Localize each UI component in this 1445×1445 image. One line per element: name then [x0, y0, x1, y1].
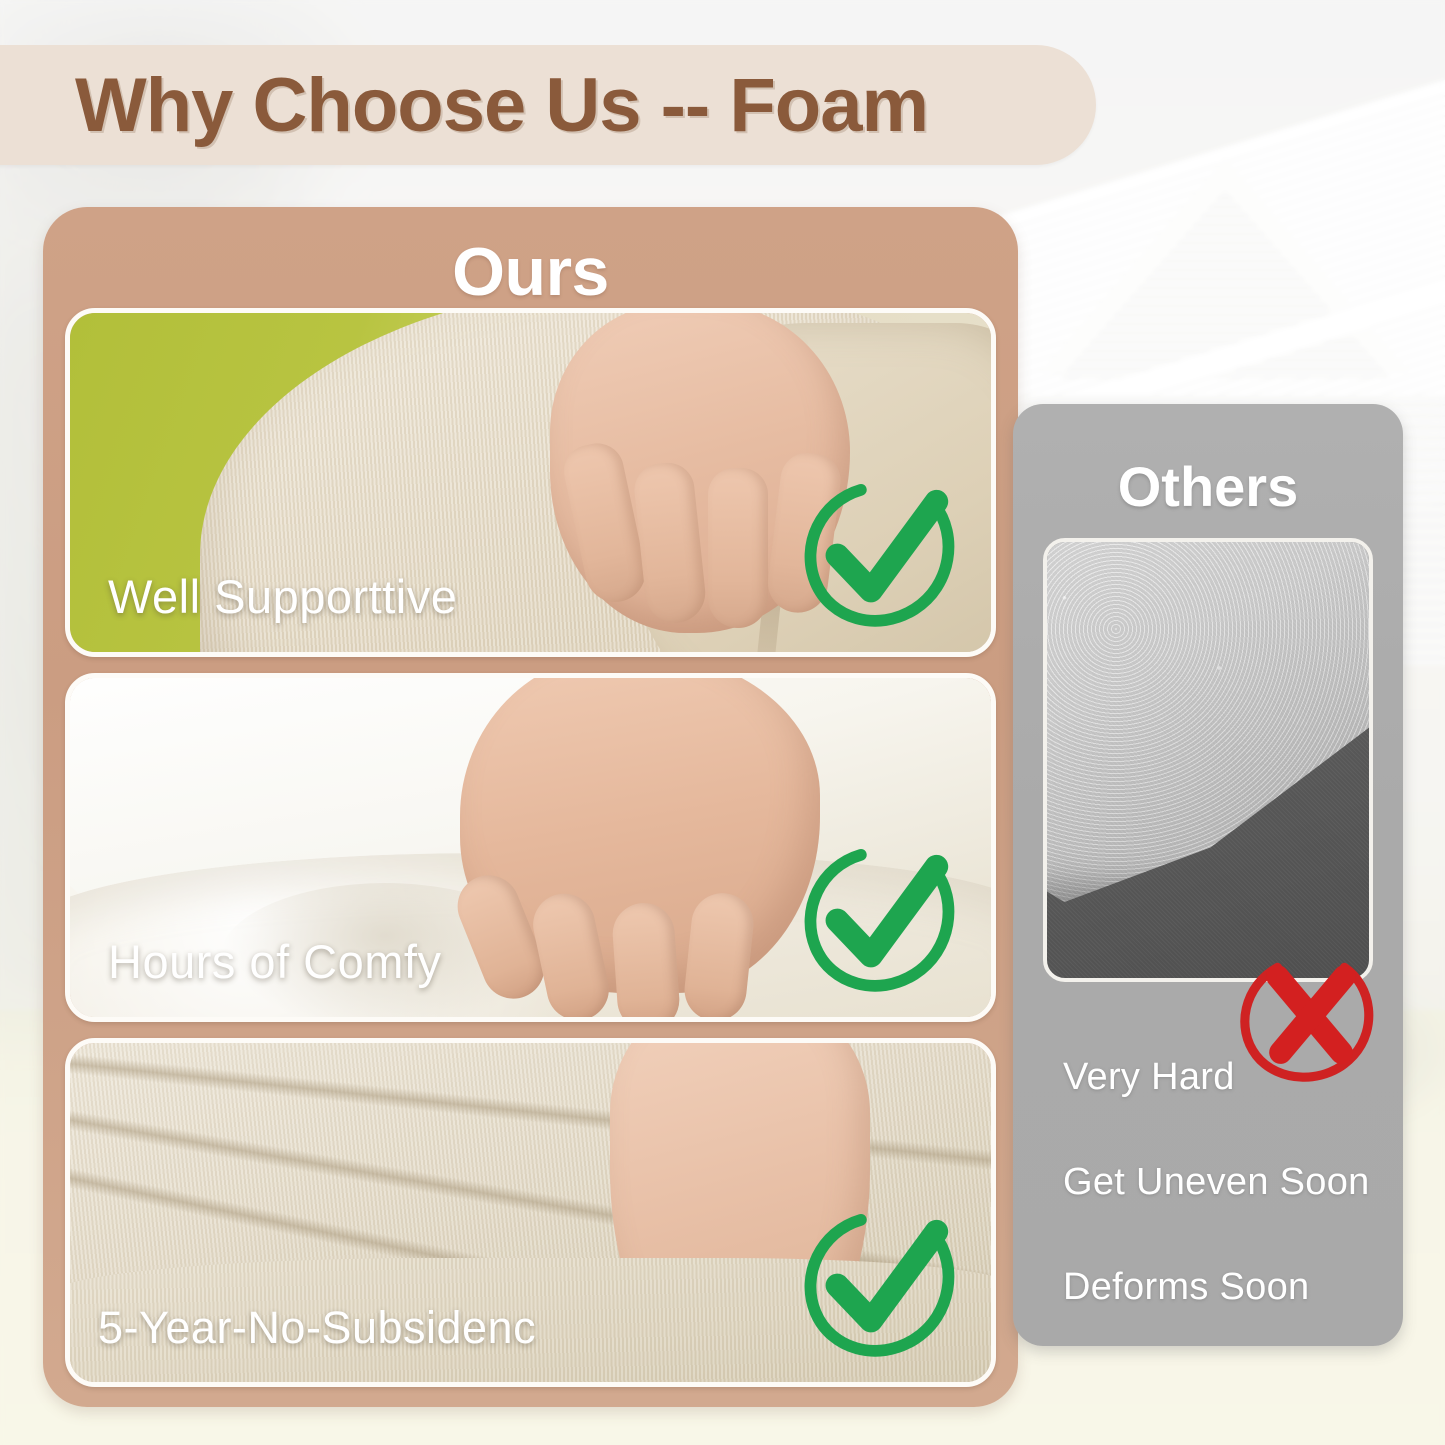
green-check-icon [797, 468, 965, 636]
others-panel: Others Very Hard Get Uneven Soon Deforms… [1013, 404, 1403, 1346]
ours-card-hours-of-comfy[interactable]: Hours of Comfy [65, 673, 996, 1022]
ours-card-list: Well Supporttive Hours of Comfy [65, 308, 996, 1387]
coarse-foam-photo [1043, 538, 1373, 982]
page-title: Why Choose Us -- Foam [75, 62, 928, 149]
ours-card-label: 5-Year-No-Subsidenc [98, 1302, 536, 1354]
ours-card-no-subsidence[interactable]: 5-Year-No-Subsidenc [65, 1038, 996, 1387]
others-panel-title: Others [1013, 454, 1403, 519]
others-drawback-item: Deforms Soon [1063, 1266, 1383, 1309]
others-drawback-item: Get Uneven Soon [1063, 1161, 1383, 1204]
ours-card-label: Well Supporttive [108, 569, 457, 624]
page-title-banner: Why Choose Us -- Foam [0, 45, 1096, 165]
ours-card-well-supportive[interactable]: Well Supporttive [65, 308, 996, 657]
green-check-icon [797, 1198, 965, 1366]
green-check-icon [797, 833, 965, 1001]
ours-panel-title: Ours [43, 233, 1018, 311]
others-drawback-list: Very Hard Get Uneven Soon Deforms Soon [1063, 1056, 1383, 1309]
ours-card-label: Hours of Comfy [108, 934, 441, 989]
ours-panel: Ours Well Supporttive [43, 207, 1018, 1407]
others-drawback-item: Very Hard [1063, 1056, 1383, 1099]
